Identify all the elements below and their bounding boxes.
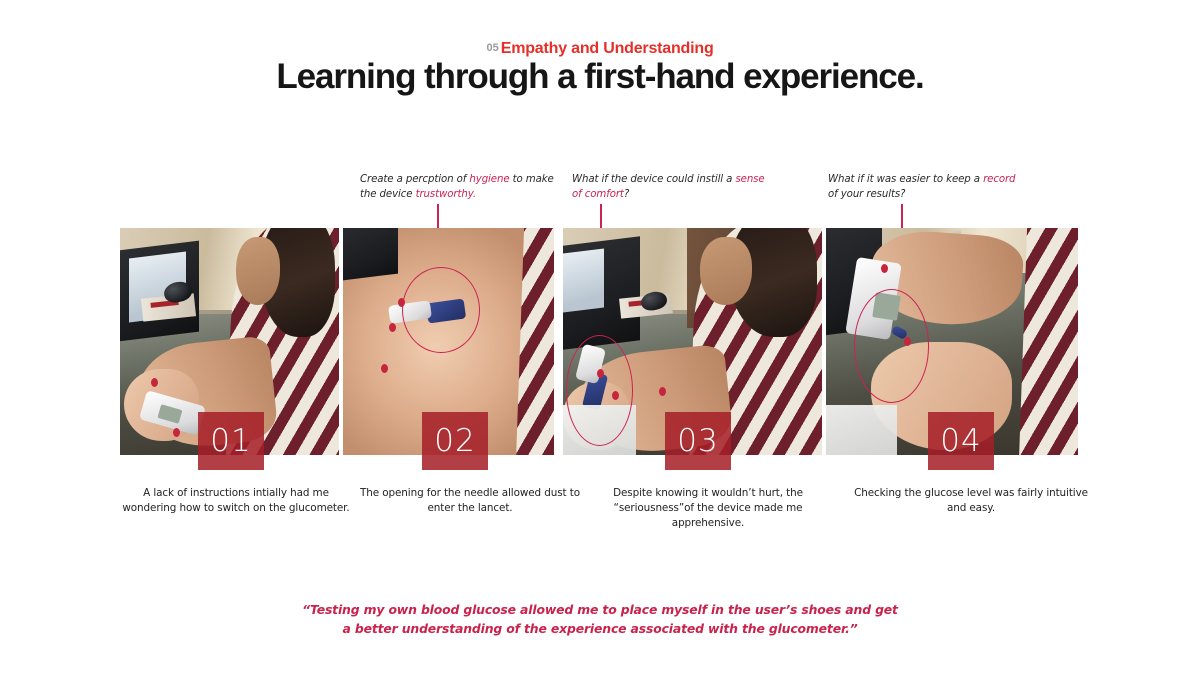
step-badge-01: 01: [198, 412, 264, 470]
annotation-text-segment: What if it was easier to keep a: [828, 174, 983, 185]
step-badge-02: 02: [422, 412, 488, 470]
annotation-text-segment: of your results?: [828, 189, 905, 200]
annotation-text-segment: Create a percption of: [360, 174, 469, 185]
step-badge-03: 03: [665, 412, 731, 470]
annotation-hygiene: Create a percption of hygiene to make th…: [360, 172, 560, 202]
section-eyebrow: 05Empathy and Understanding: [0, 40, 1200, 58]
laptop: [343, 228, 398, 282]
fingernail: [173, 428, 180, 437]
step-badge-04: 04: [928, 412, 994, 470]
annotation-highlight: hygiene: [469, 174, 509, 185]
slide-root: 05Empathy and Understanding Learning thr…: [0, 0, 1200, 675]
annotation-text-segment: ?: [624, 189, 629, 200]
person-face: [236, 237, 280, 305]
step-caption-01: A lack of instructions intially had me w…: [120, 486, 352, 516]
fingernail: [151, 378, 158, 387]
step-caption-03: Despite knowing it wouldn’t hurt, the “s…: [588, 486, 828, 531]
person-striped-shirt: [1018, 228, 1078, 455]
highlight-circle: [402, 267, 480, 353]
supply-box: [826, 405, 897, 455]
page-title: Learning through a first-hand experience…: [0, 57, 1200, 97]
highlight-circle: [566, 335, 633, 446]
highlight-circle: [854, 289, 930, 403]
pull-quote: “Testing my own blood glucose allowed me…: [300, 600, 900, 638]
annotation-highlight: record: [983, 174, 1015, 185]
section-number: 05: [486, 42, 498, 54]
fingernail: [659, 387, 666, 396]
step-caption-02: The opening for the needle allowed dust …: [354, 486, 586, 516]
annotation-highlight: trustworthy.: [416, 189, 476, 200]
step-caption-04: Checking the glucose level was fairly in…: [852, 486, 1090, 516]
annotation-record: What if it was easier to keep a record o…: [828, 172, 1028, 202]
laptop-screen: [563, 248, 604, 312]
annotation-text-segment: What if the device could instill a: [572, 174, 735, 185]
section-eyebrow-label: Empathy and Understanding: [501, 40, 714, 57]
person-face: [700, 237, 752, 305]
annotation-comfort: What if the device could instill a sense…: [572, 172, 772, 202]
